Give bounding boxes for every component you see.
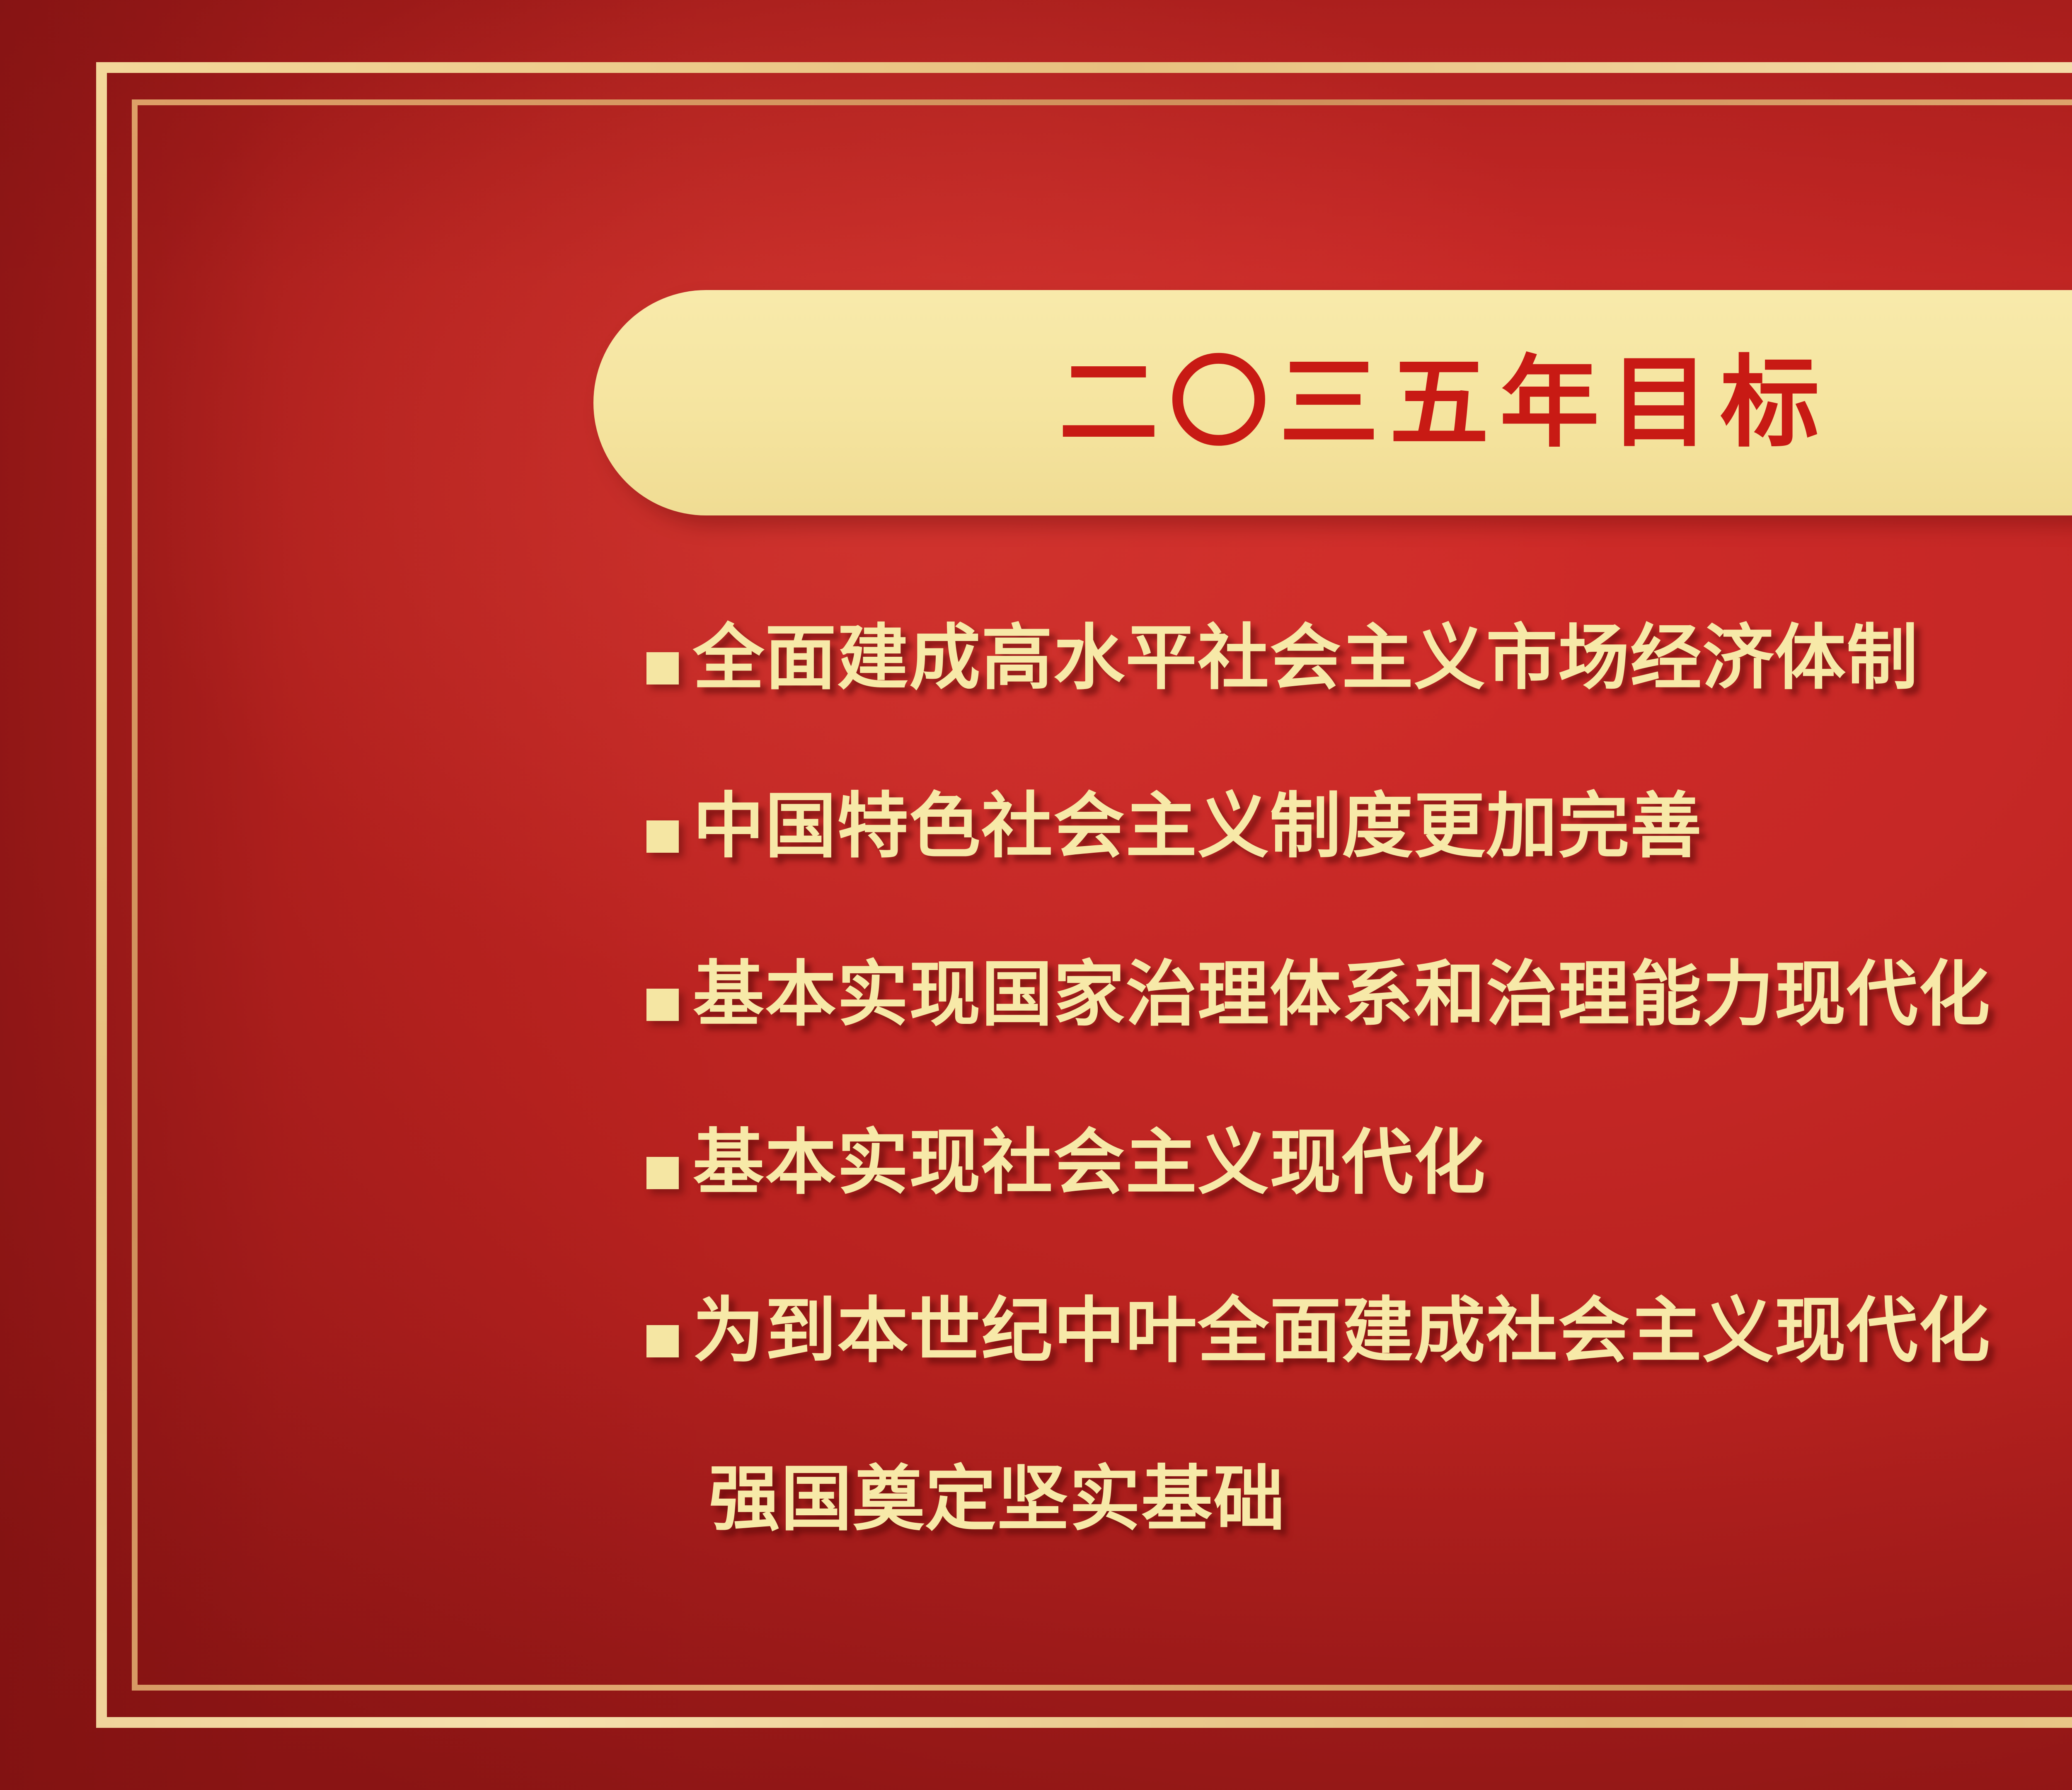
list-item-label: 基本实现社会主义现代化 [693,1126,1486,1199]
list-item-continuation-label: 强国奠定坚实基础 [693,1463,1285,1535]
square-bullet-icon [646,652,679,685]
square-bullet-icon [646,1157,679,1189]
list-item-continuation: 强国奠定坚实基础 [646,1463,2072,1599]
list-item: 中国特色社会主义制度更加完善 [646,790,2072,958]
square-bullet-icon [646,989,679,1021]
goals-bullet-list: 全面建成高水平社会主义市场经济体制 中国特色社会主义制度更加完善 基本实现国家治… [646,622,2072,1599]
list-item: 全面建成高水平社会主义市场经济体制 [646,622,2072,790]
list-item: 为到本世纪中叶全面建成社会主义现代化 [646,1294,2072,1463]
list-item-label: 为到本世纪中叶全面建成社会主义现代化 [693,1294,1991,1367]
list-item-label: 中国特色社会主义制度更加完善 [693,790,1702,862]
square-bullet-icon [646,1325,679,1357]
page-title: 二〇三五年目标 [1048,353,1830,452]
list-item: 基本实现社会主义现代化 [646,1126,2072,1294]
list-item-label: 基本实现国家治理体系和治理能力现代化 [693,958,1991,1030]
list-item-label: 全面建成高水平社会主义市场经济体制 [693,622,1919,694]
slide-canvas: 二〇三五年目标 全面建成高水平社会主义市场经济体制 中国特色社会主义制度更加完善… [0,0,2072,1790]
title-pill: 二〇三五年目标 [593,290,2072,515]
square-bullet-icon [646,820,679,853]
list-item: 基本实现国家治理体系和治理能力现代化 [646,958,2072,1126]
